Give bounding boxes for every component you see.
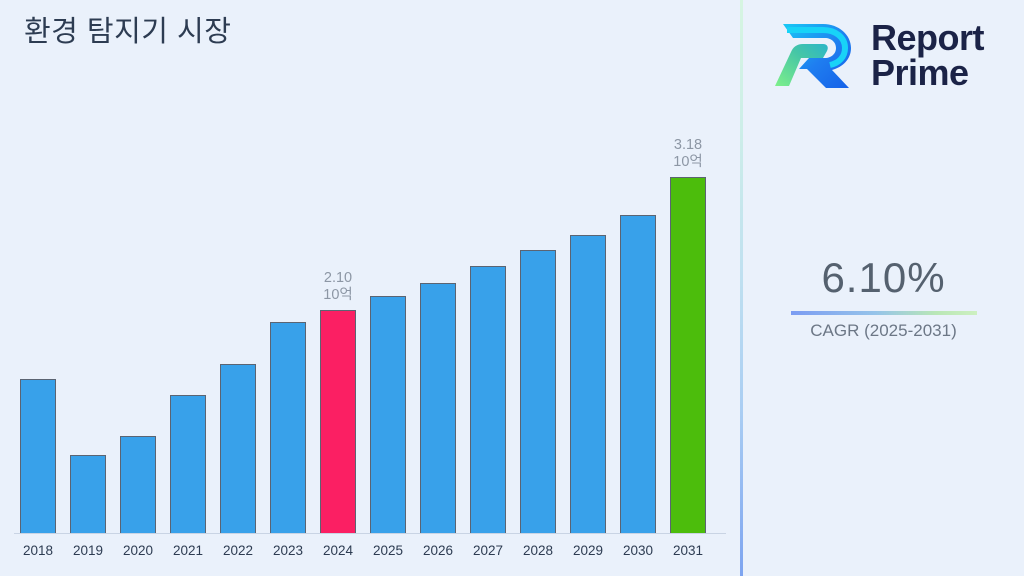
x-tick-2031: 2031 [660, 543, 716, 558]
bar-value-number: 2.10 [306, 270, 370, 287]
bar-2031[interactable] [670, 177, 706, 533]
bar-2029[interactable] [570, 235, 606, 533]
bar-value-unit: 10억 [656, 154, 720, 171]
x-tick-2028: 2028 [510, 543, 566, 558]
cagr-block: 6.10% CAGR (2025-2031) [743, 252, 1024, 341]
bar-2019[interactable] [70, 455, 106, 533]
x-tick-2018: 2018 [10, 543, 66, 558]
report-prime-logo-mark [771, 14, 857, 96]
bar-value-label-2031: 3.1810억 [656, 137, 720, 171]
bar-2026[interactable] [420, 283, 456, 533]
report-prime-logo[interactable]: Report Prime [771, 14, 984, 96]
bar-2021[interactable] [170, 395, 206, 533]
cagr-caption: CAGR (2025-2031) [743, 321, 1024, 341]
x-tick-2022: 2022 [210, 543, 266, 558]
bar-2024[interactable] [320, 310, 356, 533]
bar-2025[interactable] [370, 296, 406, 533]
x-tick-2029: 2029 [560, 543, 616, 558]
bar-chart-plot-area: 2.1010억3.1810억 2018201920202021202220232… [0, 0, 740, 576]
logo-word-line2: Prime [871, 52, 969, 93]
cagr-value: 6.10% [743, 252, 1024, 304]
brand-panel: Report Prime 6.10% CAGR (2025-2031) [743, 0, 1024, 576]
chart-baseline-axis [14, 533, 726, 534]
bar-2027[interactable] [470, 266, 506, 533]
bar-value-unit: 10억 [306, 287, 370, 304]
bar-2022[interactable] [220, 364, 256, 533]
x-tick-2025: 2025 [360, 543, 416, 558]
x-tick-2021: 2021 [160, 543, 216, 558]
x-tick-2024: 2024 [310, 543, 366, 558]
x-tick-2026: 2026 [410, 543, 466, 558]
x-tick-2030: 2030 [610, 543, 666, 558]
bar-2023[interactable] [270, 322, 306, 533]
x-tick-2019: 2019 [60, 543, 116, 558]
cagr-divider-rule [791, 311, 977, 315]
report-prime-wordmark: Report Prime [871, 20, 984, 91]
bar-2018[interactable] [20, 379, 56, 533]
x-tick-2020: 2020 [110, 543, 166, 558]
bar-value-label-2024: 2.1010억 [306, 270, 370, 304]
x-tick-2027: 2027 [460, 543, 516, 558]
bar-2020[interactable] [120, 436, 156, 533]
bar-value-number: 3.18 [656, 137, 720, 154]
bar-2028[interactable] [520, 250, 556, 533]
bar-2030[interactable] [620, 215, 656, 533]
chart-panel: 환경 탐지기 시장 2.1010억3.1810억 201820192020202… [0, 0, 740, 576]
x-tick-2023: 2023 [260, 543, 316, 558]
